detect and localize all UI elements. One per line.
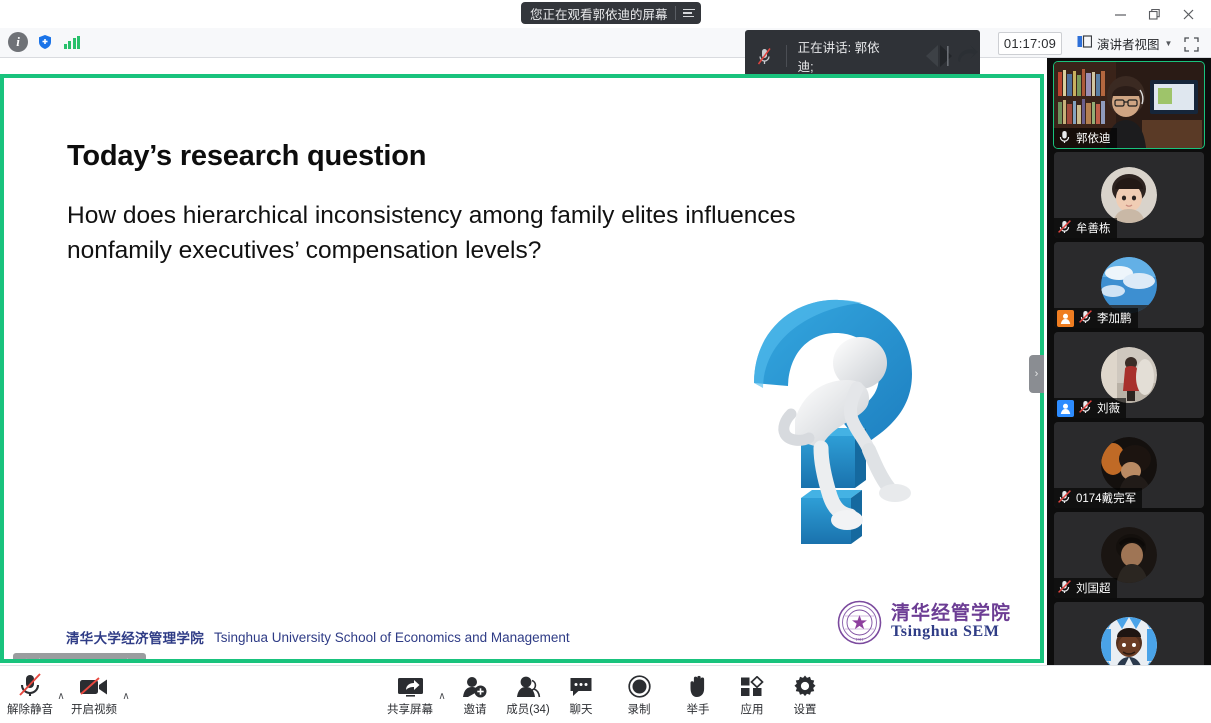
mic-muted-icon xyxy=(1057,579,1072,597)
avatar xyxy=(1101,437,1157,493)
participant-tile[interactable]: 李加鹏 xyxy=(1054,242,1204,328)
unmute-label: 解除静音 xyxy=(7,701,53,717)
smiley-icon[interactable] xyxy=(13,658,39,659)
participant-name: 刘薇 xyxy=(1097,400,1120,416)
avatar xyxy=(1101,257,1157,313)
participant-tile[interactable]: 郭依迪 xyxy=(1054,62,1204,148)
start-video-button[interactable]: 开启视频 xyxy=(66,672,122,717)
divider xyxy=(786,45,787,67)
participant-name: 李加鹏 xyxy=(1097,310,1132,326)
apps-label: 应用 xyxy=(741,701,764,717)
view-mode-label: 演讲者视图 xyxy=(1097,34,1160,53)
share-screen-button[interactable]: 共享屏幕 xyxy=(382,672,438,717)
title-bar: 您正在观看郭依迪的屏幕 xyxy=(0,0,1211,28)
zoom-meeting-window: 您正在观看郭依迪的屏幕 i xyxy=(0,0,1211,723)
slide-title: Today’s research question xyxy=(67,140,426,173)
chevron-down-icon[interactable]: ▼ xyxy=(1165,39,1173,48)
unmute-button[interactable]: 解除静音 xyxy=(2,672,58,717)
divider xyxy=(675,6,676,20)
slide-body-line-1: How does hierarchical inconsistency amon… xyxy=(67,198,897,233)
record-label: 录制 xyxy=(628,701,651,717)
participant-name: 郭依迪 xyxy=(1076,130,1111,146)
screen-share-notice-label: 您正在观看郭依迪的屏幕 xyxy=(530,4,668,23)
question-mark-illustration xyxy=(729,288,939,553)
view-mode-selector[interactable]: 演讲者视图 ▼ xyxy=(1072,32,1177,55)
meeting-control-bar: 解除静音 ∧ 开启视频 ∧ 共享屏幕 xyxy=(0,665,1211,723)
participants-icon xyxy=(515,672,541,698)
host-badge-icon xyxy=(1057,310,1074,327)
mic-muted-icon xyxy=(1057,219,1072,237)
meeting-timer: 01:17:09 xyxy=(998,32,1062,55)
hamburger-icon[interactable] xyxy=(683,9,695,18)
avatar xyxy=(1101,167,1157,223)
participant-nameplate: 牟善栋 xyxy=(1054,218,1117,238)
mic-icon xyxy=(1057,129,1072,147)
logo-text-zh: 清华经管学院 xyxy=(891,604,1011,624)
slide-footer: 清华大学经济管理学院 Tsinghua University School of… xyxy=(66,627,570,647)
participant-tile[interactable] xyxy=(1054,602,1204,673)
info-icon[interactable]: i xyxy=(8,32,28,52)
status-icons: i xyxy=(8,32,82,52)
signal-bars-icon[interactable] xyxy=(62,32,82,52)
settings-label: 设置 xyxy=(794,701,817,717)
speaking-label: 正在讲话: 郭依迪; xyxy=(798,37,894,75)
participant-nameplate: 李加鹏 xyxy=(1054,308,1138,328)
invite-button[interactable]: 邀请 xyxy=(447,672,503,717)
apps-button[interactable]: 应用 xyxy=(724,672,780,717)
close-icon[interactable] xyxy=(1171,1,1205,27)
participant-filmstrip[interactable]: 郭依迪 xyxy=(1047,58,1211,673)
share-screen-icon xyxy=(397,672,424,698)
slide-body-text: How does hierarchical inconsistency amon… xyxy=(67,198,897,269)
shared-screen-frame[interactable]: Today’s research question How does hiera… xyxy=(0,74,1044,663)
chat-button[interactable]: 聊天 xyxy=(553,672,609,717)
svg-text:1911: 1911 xyxy=(856,637,864,642)
invite-label: 邀请 xyxy=(464,701,487,717)
shield-plus-icon[interactable] xyxy=(35,32,55,52)
slide-body-line-2: nonfamily executives’ compensation level… xyxy=(67,233,897,268)
fullscreen-icon[interactable] xyxy=(1180,33,1202,55)
record-icon xyxy=(628,672,651,698)
participant-tile[interactable]: 刘薇 xyxy=(1054,332,1204,418)
tsinghua-sem-seal-icon: 1911 xyxy=(837,600,882,645)
raise-hand-label: 举手 xyxy=(687,701,710,717)
filmstrip-collapse-handle[interactable]: › xyxy=(1029,355,1044,393)
share-screen-label: 共享屏幕 xyxy=(387,701,433,717)
participant-tile[interactable]: 0174戴完军 xyxy=(1054,422,1204,508)
chevron-right-icon: › xyxy=(1035,368,1039,380)
video-options-caret[interactable]: ∧ xyxy=(120,690,132,702)
mic-muted-icon xyxy=(755,45,775,67)
mic-muted-icon xyxy=(17,672,43,698)
window-controls xyxy=(1103,0,1205,28)
chat-icon xyxy=(569,672,593,698)
participant-tile[interactable]: 刘国超 xyxy=(1054,512,1204,598)
slide-footer-zh: 清华大学经济管理学院 xyxy=(66,627,204,647)
minimize-icon[interactable] xyxy=(1103,1,1137,27)
avatar xyxy=(1101,347,1157,403)
cohost-badge-icon xyxy=(1057,400,1074,417)
participant-nameplate: 刘薇 xyxy=(1054,398,1126,418)
participant-tile[interactable]: 牟善栋 xyxy=(1054,152,1204,238)
speaker-view-icon xyxy=(1077,35,1092,52)
start-video-label: 开启视频 xyxy=(71,701,117,717)
participant-nameplate: 刘国超 xyxy=(1054,578,1117,598)
record-button[interactable]: 录制 xyxy=(611,672,667,717)
presentation-slide: Today’s research question How does hiera… xyxy=(4,78,1040,659)
participants-button[interactable]: 成员(34) xyxy=(500,672,556,717)
participant-nameplate: 0174戴完军 xyxy=(1054,488,1142,508)
participant-name: 牟善栋 xyxy=(1076,220,1111,236)
mic-muted-icon xyxy=(1078,399,1093,417)
mic-muted-icon xyxy=(1078,309,1093,327)
annotation-indicator-icons xyxy=(922,41,980,71)
settings-button[interactable]: 设置 xyxy=(777,672,833,717)
video-off-icon xyxy=(79,672,109,698)
divider xyxy=(127,658,128,660)
slide-footer-en: Tsinghua University School of Economics … xyxy=(214,630,570,645)
participant-name: 0174戴完军 xyxy=(1076,490,1136,506)
raise-hand-icon xyxy=(686,672,710,698)
comment-input-placeholder[interactable]: 说点什么... xyxy=(40,658,127,660)
tsinghua-sem-logo: 1911 清华经管学院 Tsinghua SEM xyxy=(837,600,1011,645)
restore-icon[interactable] xyxy=(1137,1,1171,27)
participant-nameplate: 郭依迪 xyxy=(1054,128,1117,148)
screen-share-notice[interactable]: 您正在观看郭依迪的屏幕 xyxy=(521,2,701,24)
participant-name: 刘国超 xyxy=(1076,580,1111,596)
invite-person-icon xyxy=(462,672,488,698)
mic-muted-icon xyxy=(1057,489,1072,507)
participants-label: 成员(34) xyxy=(506,701,549,717)
tsinghua-sem-wordmark: 清华经管学院 Tsinghua SEM xyxy=(891,604,1011,641)
reaction-comment-bar[interactable]: 说点什么... ‹ xyxy=(13,653,146,659)
settings-gear-icon xyxy=(793,672,817,698)
avatar xyxy=(1101,527,1157,583)
raise-hand-button[interactable]: 举手 xyxy=(670,672,726,717)
apps-icon xyxy=(740,672,764,698)
chat-label: 聊天 xyxy=(570,701,593,717)
logo-text-en: Tsinghua SEM xyxy=(891,624,1011,641)
